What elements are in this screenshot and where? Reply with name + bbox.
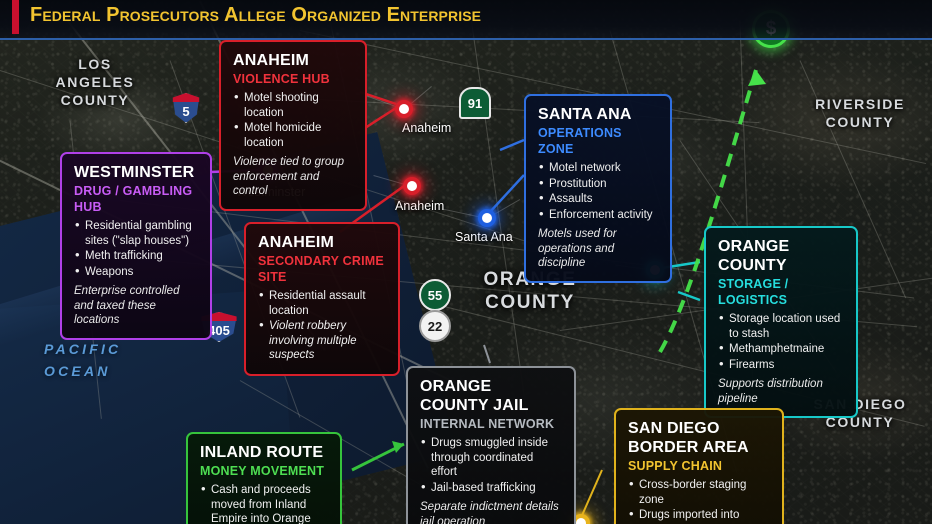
header-bar: ORANGE COUNTY 'F' CRIME NETWORK Federal … bbox=[0, 0, 932, 40]
callout-note: Separate indictment details jail operati… bbox=[420, 500, 562, 524]
callout-note: Violence tied to group enforcement and c… bbox=[233, 155, 353, 199]
list-item: Cross-border staging zone bbox=[628, 478, 770, 507]
highway-shield-route-91: 91 bbox=[459, 87, 491, 119]
callout-title: SANTA ANA bbox=[538, 105, 658, 124]
callout-bullet-list: Cash and proceeds moved from Inland Empi… bbox=[200, 483, 328, 524]
list-item: Meth trafficking bbox=[74, 249, 198, 264]
callout-bullet-list: Motel network Prostitution Assaults Enfo… bbox=[538, 161, 658, 222]
list-item: Motel homicide location bbox=[233, 121, 353, 150]
list-item: Jail-based trafficking bbox=[420, 481, 562, 496]
list-item: Motel shooting location bbox=[233, 91, 353, 120]
callout-note: Supports distribution pipeline bbox=[718, 377, 844, 406]
map-marker-santa-ana[interactable] bbox=[478, 209, 496, 227]
ocean-label-pacific: PACIFIC OCEAN bbox=[44, 338, 174, 382]
highway-label-22: 22 bbox=[419, 310, 451, 342]
list-item: Prostitution bbox=[538, 177, 658, 192]
callout-orange-county-jail-internal-network[interactable]: ORANGE COUNTY JAIL INTERNAL NETWORK Drug… bbox=[406, 366, 576, 524]
callout-bullet-list: Residential gambling sites ("slap houses… bbox=[74, 219, 198, 279]
callout-bullet-list: Drugs smuggled inside through coordinate… bbox=[420, 436, 562, 495]
callout-subtitle: STORAGE / LOGISTICS bbox=[718, 276, 844, 308]
highway-shield-route-55: 55 bbox=[419, 279, 451, 311]
callout-title: ORANGE COUNTY JAIL bbox=[420, 377, 562, 415]
list-item: Drugs imported into Southern California bbox=[628, 508, 770, 524]
callout-anaheim-secondary-crime-site[interactable]: ANAHEIM SECONDARY CRIME SITE Residential… bbox=[244, 222, 400, 376]
callout-title: INLAND ROUTE bbox=[200, 443, 328, 462]
callout-bullet-list: Storage location used to stash Methamphe… bbox=[718, 312, 844, 372]
city-label-anaheim-south: Anaheim bbox=[395, 199, 444, 213]
callout-title: ORANGE COUNTY bbox=[718, 237, 844, 275]
highway-label-91: 91 bbox=[459, 87, 491, 119]
callout-title: WESTMINSTER bbox=[74, 163, 198, 182]
map-marker-anaheim-secondary[interactable] bbox=[403, 177, 421, 195]
highway-label-55: 55 bbox=[419, 279, 451, 311]
callout-note: Motels used for operations and disciplin… bbox=[538, 227, 658, 271]
county-label-los-angeles: LOS ANGELES COUNTY bbox=[40, 55, 150, 109]
county-label-riverside: RIVERSIDE COUNTY bbox=[800, 95, 920, 131]
highway-shield-route-22: 22 bbox=[419, 310, 451, 342]
callout-subtitle: SECONDARY CRIME SITE bbox=[258, 253, 386, 285]
list-item: Motel network bbox=[538, 161, 658, 176]
highway-shield-interstate-5: 5 bbox=[171, 93, 201, 123]
list-item: Methamphetmaine bbox=[718, 342, 844, 357]
header-accent-bar bbox=[12, 0, 19, 34]
infographic-map: LOS ANGELES COUNTY RIVERSIDE COUNTY SAN … bbox=[0, 0, 932, 524]
callout-westminster-drug-gambling-hub[interactable]: WESTMINSTER DRUG / GAMBLING HUB Resident… bbox=[60, 152, 212, 340]
city-label-anaheim-north: Anaheim bbox=[402, 121, 451, 135]
callout-inland-route-money-movement[interactable]: INLAND ROUTE MONEY MOVEMENT Cash and pro… bbox=[186, 432, 342, 524]
callout-bullet-list: Residential assault location Violent rob… bbox=[258, 289, 386, 363]
list-item: Enforcement activity bbox=[538, 208, 658, 223]
list-item: Cash and proceeds moved from Inland Empi… bbox=[200, 483, 328, 524]
list-item: Assaults bbox=[538, 192, 658, 207]
city-label-santa-ana: Santa Ana bbox=[455, 230, 513, 244]
callout-santa-ana-operations-zone[interactable]: SANTA ANA OPERATIONS ZONE Motel network … bbox=[524, 94, 672, 283]
callout-subtitle: SUPPLY CHAIN bbox=[628, 458, 770, 474]
callout-bullet-list: Cross-border staging zone Drugs imported… bbox=[628, 478, 770, 524]
callout-bullet-list: Motel shooting location Motel homicide l… bbox=[233, 91, 353, 150]
callout-san-diego-border-area-supply-chain[interactable]: SAN DIEGO BORDER AREA SUPPLY CHAIN Cross… bbox=[614, 408, 784, 524]
callout-subtitle: INTERNAL NETWORK bbox=[420, 416, 562, 432]
callout-subtitle: OPERATIONS ZONE bbox=[538, 125, 658, 157]
callout-subtitle: DRUG / GAMBLING HUB bbox=[74, 183, 198, 215]
callout-subtitle: MONEY MOVEMENT bbox=[200, 463, 328, 479]
callout-orange-county-storage-logistics[interactable]: ORANGE COUNTY STORAGE / LOGISTICS Storag… bbox=[704, 226, 858, 418]
callout-title: ANAHEIM bbox=[233, 51, 353, 70]
highway-label-5: 5 bbox=[171, 93, 201, 123]
list-item: Residential gambling sites ("slap houses… bbox=[74, 219, 198, 248]
callout-note: Enterprise controlled and taxed these lo… bbox=[74, 284, 198, 328]
map-marker-anaheim-violence[interactable] bbox=[395, 100, 413, 118]
list-item: Weapons bbox=[74, 265, 198, 280]
list-item: Drugs smuggled inside through coordinate… bbox=[420, 436, 562, 480]
list-item: Firearms bbox=[718, 358, 844, 373]
callout-anaheim-violence-hub[interactable]: ANAHEIM VIOLENCE HUB Motel shooting loca… bbox=[219, 40, 367, 211]
list-item: Residential assault location bbox=[258, 289, 386, 318]
list-item: Storage location used to stash bbox=[718, 312, 844, 341]
callout-subtitle: VIOLENCE HUB bbox=[233, 71, 353, 87]
page-subtitle: Federal Prosecutors Allege Organized Ent… bbox=[30, 4, 481, 27]
callout-title: SAN DIEGO BORDER AREA bbox=[628, 419, 770, 457]
list-item: Violent robbery involving multiple suspe… bbox=[258, 319, 386, 363]
callout-title: ANAHEIM bbox=[258, 233, 386, 252]
